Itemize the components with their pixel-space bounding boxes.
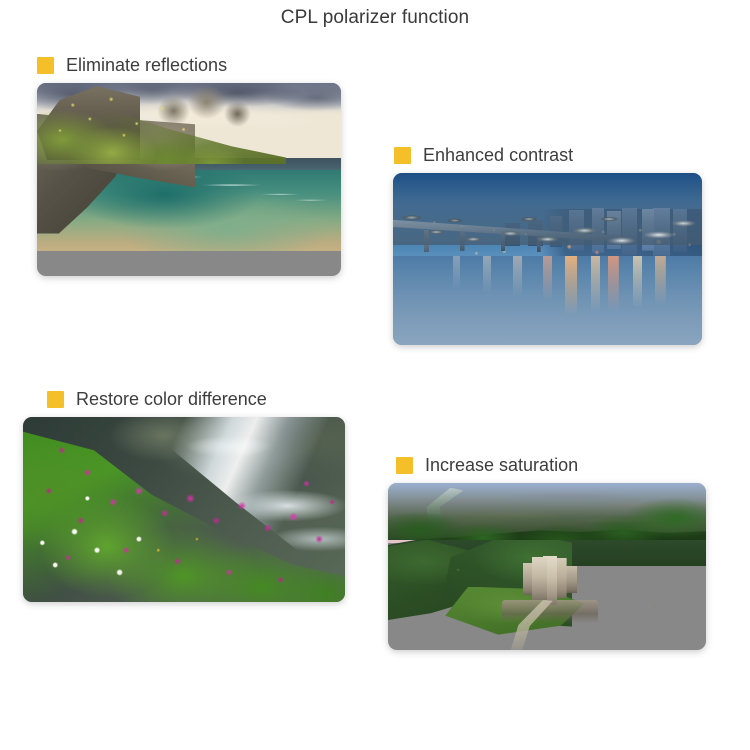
yellow-square-bullet-icon: [396, 457, 413, 474]
yellow-square-bullet-icon: [37, 57, 54, 74]
feature-label: Eliminate reflections: [37, 56, 341, 74]
feature-label: Enhanced contrast: [394, 146, 702, 164]
feature-label-text: Enhanced contrast: [423, 146, 573, 164]
feature-eliminate-reflections: Eliminate reflections: [37, 56, 341, 276]
foliage-detail-layer: [388, 483, 706, 650]
yellow-square-bullet-icon: [47, 391, 64, 408]
white-daisies-layer: [23, 417, 345, 602]
feature-label: Increase saturation: [396, 456, 706, 474]
feature-restore-color-difference: Restore color difference: [47, 390, 345, 602]
wildflowers-stream-photo: [23, 417, 345, 602]
feature-label-text: Restore color difference: [76, 390, 267, 408]
city-bridge-bluehour-photo: [393, 173, 702, 345]
light-reflections-layer: [393, 256, 702, 325]
feature-label: Restore color difference: [47, 390, 345, 408]
castle-valley-dusk-photo: [388, 483, 706, 650]
feature-enhanced-contrast: Enhanced contrast: [394, 146, 702, 345]
feature-increase-saturation: Increase saturation: [396, 456, 706, 650]
page-title: CPL polarizer function: [0, 7, 750, 29]
feature-label-text: Eliminate reflections: [66, 56, 227, 74]
feature-label-text: Increase saturation: [425, 456, 578, 474]
rocky-coastal-cove-photo: [37, 83, 341, 276]
yellow-flowers-layer: [43, 83, 256, 141]
yellow-square-bullet-icon: [394, 147, 411, 164]
pebble-shore-layer: [393, 173, 702, 245]
